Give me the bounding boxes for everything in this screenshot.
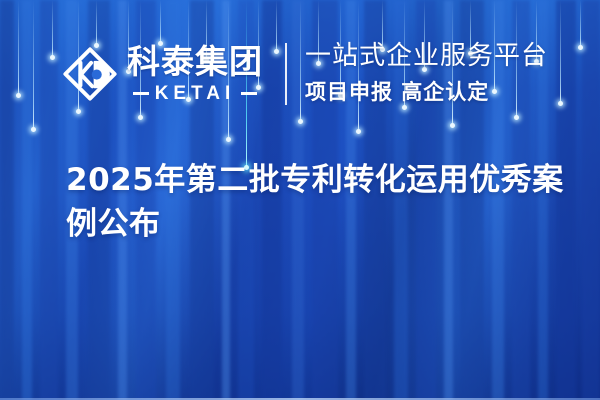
light-streak (560, 0, 561, 104)
tagline-block: 一站式企业服务平台 项目申报 高企认定 (305, 42, 548, 106)
light-streak (18, 0, 19, 96)
background-stripe (0, 0, 14, 400)
background-stripe (22, 0, 32, 400)
background-stripe (582, 0, 600, 400)
banner-header: 科泰集团 KETAI 一站式企业服务平台 项目申报 高企认定 (62, 42, 548, 106)
light-streak (52, 0, 53, 58)
light-streak (33, 0, 34, 130)
light-streak (580, 0, 581, 48)
brand-name-en: KETAI (155, 84, 236, 103)
brand-name-cn: 科泰集团 (127, 45, 263, 78)
background-stripe (40, 0, 58, 400)
ketai-diamond-kt-monogram-icon (62, 46, 118, 102)
brand-logo[interactable]: 科泰集团 KETAI (62, 45, 263, 103)
dash-left-icon (133, 92, 149, 95)
dash-right-icon (241, 92, 257, 95)
tagline-secondary: 项目申报 高企认定 (305, 76, 548, 106)
light-streak (96, 0, 97, 46)
brand-name-en-row: KETAI (127, 84, 263, 103)
light-streak (160, 0, 161, 44)
tagline-primary: 一站式企业服务平台 (305, 42, 548, 70)
promo-banner: 科泰集团 KETAI 一站式企业服务平台 项目申报 高企认定 2025年第二批专… (0, 0, 600, 400)
header-divider (285, 43, 287, 105)
brand-wordmark: 科泰集团 KETAI (127, 45, 263, 103)
page-title: 2025年第二批专利转化运用优秀案例公布 (66, 158, 580, 246)
